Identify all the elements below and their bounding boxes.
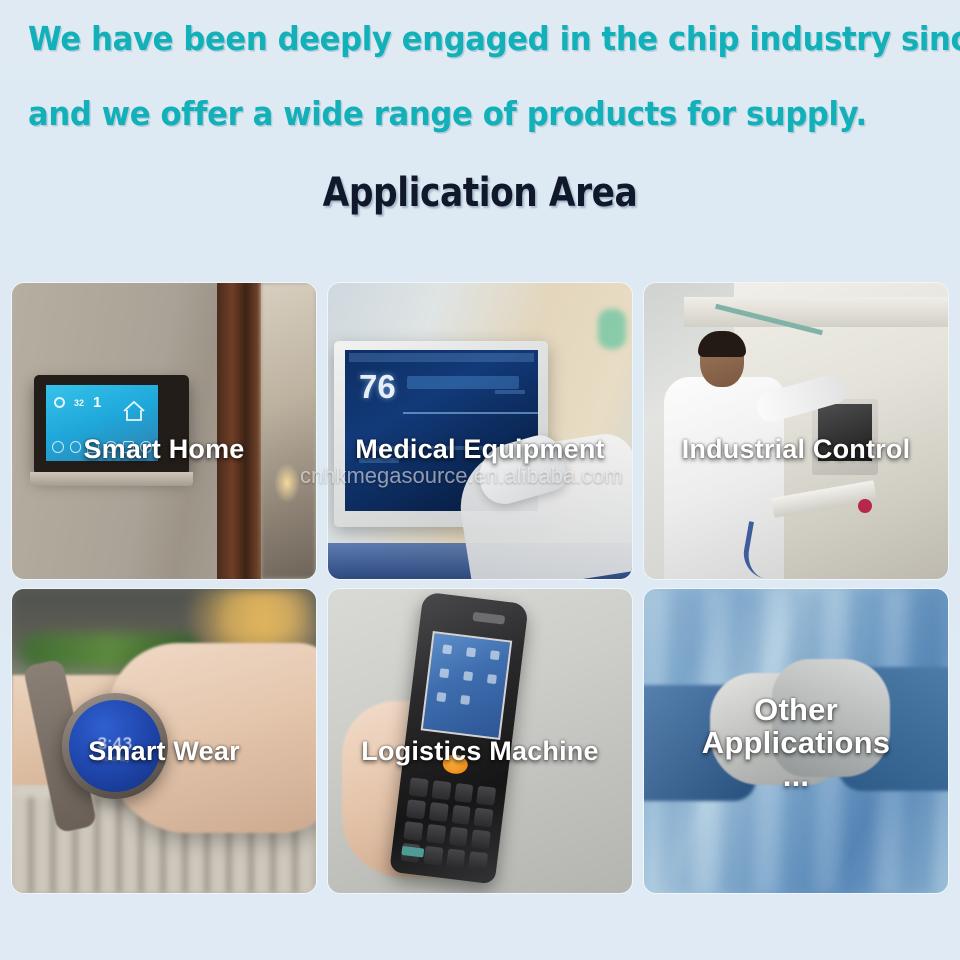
key [423, 846, 443, 866]
handheld-pda-icon [389, 592, 529, 885]
weather-row: 32 1 [54, 395, 101, 410]
room-background-decor [261, 283, 316, 579]
key [446, 848, 466, 868]
smartwatch-icon: 3:43 Thursday [62, 693, 168, 799]
headline-line-2: and we offer a wide range of products fo… [28, 97, 882, 130]
page-title: Application Area [67, 170, 893, 216]
key [471, 829, 491, 849]
key [448, 827, 468, 847]
pda-app-icon-6 [487, 674, 497, 684]
panel-temp: 32 [74, 398, 84, 408]
pda-app-icon-2 [466, 647, 476, 657]
key [429, 802, 449, 822]
tile-smart-wear[interactable]: 3:43 Thursday Smart Wear [12, 589, 316, 893]
key [476, 786, 496, 806]
machine-beam-decor [684, 297, 948, 327]
watch-time: 3:43 [69, 734, 161, 754]
operator-hair-decor [698, 331, 746, 357]
pda-app-icon-3 [490, 650, 500, 660]
curtain-icon [123, 441, 135, 453]
pda-keypad [401, 777, 497, 871]
home-icon [120, 399, 148, 423]
light-icon [52, 441, 64, 453]
crt-monitor-icon [812, 399, 878, 475]
monitor-line-4 [495, 390, 525, 394]
application-area-grid: 32 1 Smart Home [12, 283, 948, 893]
key [409, 777, 429, 797]
key [426, 824, 446, 844]
headline-line-1: We have been deeply engaged in the chip … [28, 22, 882, 55]
pda-app-icon-1 [442, 644, 452, 654]
smart-home-panel-icon: 32 1 [34, 375, 189, 475]
panel-screen: 32 1 [46, 385, 158, 461]
fan-icon [70, 441, 82, 453]
monitor-line-2 [359, 458, 399, 463]
lock-icon [87, 441, 99, 453]
sun-icon [54, 397, 65, 408]
pda-app-icon-7 [436, 692, 446, 702]
ac-icon [140, 441, 152, 453]
tile-smart-home[interactable]: 32 1 Smart Home [12, 283, 316, 579]
green-glow-decor [598, 309, 626, 349]
ecg-waveform [403, 412, 538, 414]
key [403, 821, 423, 841]
key [468, 851, 488, 871]
glass-sheen-decor [644, 589, 948, 893]
headline-block: We have been deeply engaged in the chip … [0, 0, 960, 130]
emergency-stop-icon [858, 499, 872, 513]
door-frame-decor [217, 283, 261, 579]
scan-button-icon [442, 753, 469, 775]
pda-app-icon-5 [463, 671, 473, 681]
key [406, 799, 426, 819]
tile-logistics-machine[interactable]: Logistics Machine [328, 589, 632, 893]
monitor-value: 76 [359, 370, 396, 403]
panel-control-icons [52, 441, 152, 453]
speaker-grille-icon [472, 612, 505, 625]
monitor-line-3 [431, 446, 491, 450]
watch-subtext: Thursday [69, 756, 161, 763]
watch-face: 3:43 Thursday [69, 700, 161, 792]
key [431, 780, 451, 800]
tile-other-applications[interactable]: Other Applications ... [644, 589, 948, 893]
pda-app-icon-4 [439, 668, 449, 678]
tile-industrial-control[interactable]: Industrial Control [644, 283, 948, 579]
key [454, 783, 474, 803]
pda-screen [421, 631, 513, 740]
monitor-topbar [349, 353, 534, 362]
key [451, 805, 471, 825]
pda-app-icon-8 [460, 695, 470, 705]
panel-value: 1 [93, 395, 101, 410]
room-light-decor [274, 463, 300, 503]
monitor-line-1 [359, 446, 411, 451]
monitor-bar [407, 376, 519, 389]
key [474, 808, 494, 828]
camera-icon [105, 441, 117, 453]
tile-medical-equipment[interactable]: 76 Medical Equipment [328, 283, 632, 579]
